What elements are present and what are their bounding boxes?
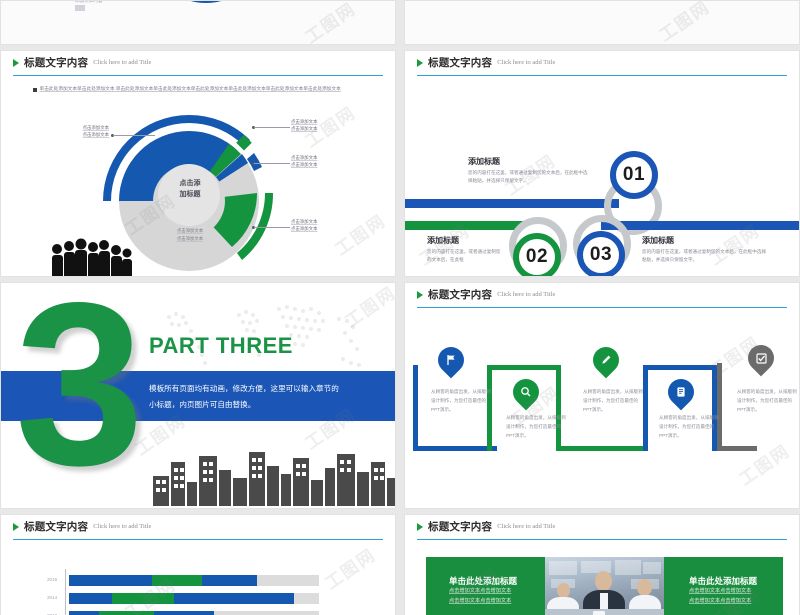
donut-chart: 点击添 加标题 点击添加文本 点击添加文本 点击添加文本 点击添加文本 点击添加… (1, 97, 396, 277)
checkbox-icon[interactable] (748, 345, 774, 371)
chart-y-label: 2015 (47, 577, 57, 582)
chart-bar-segment (174, 593, 294, 604)
cut-caption-b: 点击添加内容点击添加内容点击添加 (675, 0, 785, 2)
slide-title: 标题文字内容 (24, 55, 88, 70)
slide-title: 标题文字内容 (428, 519, 492, 534)
chart-y-label: 2014 (47, 595, 57, 600)
donut-inner-label: 点击添加文本 点击添加文本 (153, 227, 227, 243)
step-caption-4: 从顾客的角度出发，从排版到设计制作，为您打造最佳的PPT演示。 (659, 413, 721, 441)
chart-axis (65, 569, 66, 615)
bullet-text: 单击此处添加文本单击此处添加文本 单击此处添加文本单击此处添加文本单击此处添加文… (40, 85, 341, 94)
bullet-paragraph: 单击此处添加文本单击此处添加文本 单击此处添加文本单击此处添加文本单击此处添加文… (33, 85, 377, 94)
slide-header: 标题文字内容 Click here to add Title (405, 515, 799, 538)
slide-title: 标题文字内容 (24, 519, 88, 534)
chart-bar-segment (152, 575, 202, 586)
slide-subtitle: Click here to add Title (497, 523, 555, 530)
donut-callout-0: 点击添加文本 点击添加文本 (57, 125, 109, 139)
block-title-2: 添加标题 (427, 235, 459, 246)
chart-bar-segment (202, 575, 257, 586)
big-section-number: 3 (15, 282, 144, 501)
slide-subtitle: Click here to add Title (93, 59, 151, 66)
flag-icon[interactable] (438, 347, 464, 373)
number-label-3: 03 (590, 244, 612, 266)
slide-thumbnail-photo-panels[interactable]: 标题文字内容 Click here to add Title 单击此处添加标题 … (404, 514, 800, 615)
slide-subtitle: Click here to add Title (93, 523, 151, 530)
slide-thumbnail-bar-chart[interactable]: 标题文字内容 Click here to add Title 201520142… (0, 514, 396, 615)
chart-bar-segment (214, 611, 319, 615)
triangle-bullet-icon (417, 291, 423, 299)
slide-thumbnail-cut-top-left[interactable]: 添加文本内容 工图网 (0, 0, 396, 45)
block-title-3: 添加标题 (642, 235, 674, 246)
chart-bar-segment (294, 593, 319, 604)
bar-chart: 2015201420132012 (1, 555, 396, 615)
header-divider (13, 539, 383, 540)
donut-callout-2: 点击添加文本 点击添加文本 (291, 155, 347, 169)
triangle-bullet-icon (417, 59, 423, 67)
slide-title: 标题文字内容 (428, 55, 492, 70)
block-body-1: 您的内容打在这里，或者通过复制您的文本后，在此框中选择粘贴，并选择只保留文字。 (468, 169, 588, 186)
block-body-3: 您的内容打在这里，或者通过复制您的文本后，在此框中选择粘贴，并选择只保留文字。 (642, 248, 768, 265)
slide-subtitle: Click here to add Title (497, 291, 555, 298)
header-divider (13, 75, 383, 76)
step-caption-3: 从顾客的角度出发，从排版到设计制作，为您打造最佳的PPT演示。 (583, 387, 645, 415)
donut-callout-3: 点击添加文本 点击添加文本 (291, 219, 347, 233)
triangle-bullet-icon (417, 523, 423, 531)
pencil-icon[interactable] (593, 347, 619, 373)
number-ring-1[interactable]: 01 (610, 151, 658, 199)
header-divider (417, 307, 787, 308)
chart-bar-segment (69, 575, 152, 586)
band-text: 模板所有页面均有动画，修改方便，这里可以输入章节的小标题，内页图片可自由替换。 (149, 381, 339, 413)
slide-thumbnail-donut[interactable]: 标题文字内容 Click here to add Title 单击此处添加文本单… (0, 50, 396, 277)
slide-title: 标题文字内容 (428, 287, 492, 302)
chart-bar-segment (154, 611, 214, 615)
number-bar-2 (405, 221, 523, 230)
slide-header: 标题文字内容 Click here to add Title (1, 51, 395, 74)
number-ring-2[interactable]: 02 (513, 233, 561, 277)
search-icon[interactable] (513, 379, 539, 405)
header-divider (417, 75, 787, 76)
number-bar-3 (601, 221, 800, 230)
slide-header: 标题文字内容 Click here to add Title (1, 515, 395, 538)
panel-body-right: 点击增加文本点击增加文本 点击增加文本点击增加文本 (689, 587, 771, 607)
number-ring-3[interactable]: 03 (577, 231, 625, 277)
chart-bar-segment (112, 593, 175, 604)
cut-caption-a: 加文本内容添加文本内容 (433, 0, 523, 2)
square-bullet-icon (33, 88, 37, 92)
block-body-2: 您的内容打在这里，或者通过复制您的文本后，在此框 (427, 248, 505, 265)
city-skyline-icon (149, 448, 396, 506)
watermark-layer: 工图网 (1, 1, 395, 44)
slide-thumbnail-icon-steps[interactable]: 标题文字内容 Click here to add Title (404, 282, 800, 509)
chart-bar-segment (99, 611, 154, 615)
panel-body-left: 点击增加文本点击增加文本 点击增加文本点击增加文本 (449, 587, 531, 607)
cut-blue-shape (183, 0, 229, 3)
chart-bar-segment (69, 611, 99, 615)
triangle-bullet-icon (13, 523, 19, 531)
people-silhouette-icon (47, 237, 137, 277)
slide-thumbnail-numbers[interactable]: 标题文字内容 Click here to add Title 01 添加标题 您… (404, 50, 800, 277)
slide-header: 标题文字内容 Click here to add Title (405, 283, 799, 306)
part-label: PART THREE (149, 333, 293, 359)
meeting-photo (545, 557, 664, 615)
header-divider (417, 539, 787, 540)
panel-title-left: 单击此处添加标题 (449, 575, 517, 587)
slide-subtitle: Click here to add Title (497, 59, 555, 66)
document-icon[interactable] (668, 379, 694, 405)
step-caption-2: 从顾客的角度出发，从排版到设计制作，为您打造最佳的PPT演示。 (506, 413, 568, 441)
number-label-2: 02 (526, 246, 548, 268)
step-caption-5: 从顾客的角度出发，从排版到设计制作，为您打造最佳的PPT演示。 (737, 387, 799, 415)
number-label-1: 01 (623, 164, 645, 186)
number-bar-1 (405, 199, 619, 208)
watermark-layer: 工图网 (405, 1, 799, 44)
triangle-bullet-icon (13, 59, 19, 67)
chart-bar-segment (257, 575, 320, 586)
donut-center-label: 点击添 加标题 (159, 179, 221, 200)
donut-callout-1: 点击添加文本 点击添加文本 (291, 119, 347, 133)
chart-bar-segment (69, 593, 112, 604)
slide-header: 标题文字内容 Click here to add Title (405, 51, 799, 74)
slide-thumbnail-cut-top-right[interactable]: 加文本内容添加文本内容 点击添加内容点击添加内容点击添加 工图网 (404, 0, 800, 45)
ppt-preview-grid: 添加文本内容 工图网 加文本内容添加文本内容 点击添加内容点击添加内容点击添加 … (0, 0, 800, 615)
step-caption-1: 从顾客的角度出发，从排版到设计制作，为您打造最佳的PPT演示。 (431, 387, 493, 415)
slide-thumbnail-part-three[interactable]: 3 PART THREE 模板所有页面均有动画，修改方便，这里可以输入章节的小标… (0, 282, 396, 509)
panel-title-right: 单击此处添加标题 (689, 575, 757, 587)
block-title-1: 添加标题 (468, 156, 500, 167)
